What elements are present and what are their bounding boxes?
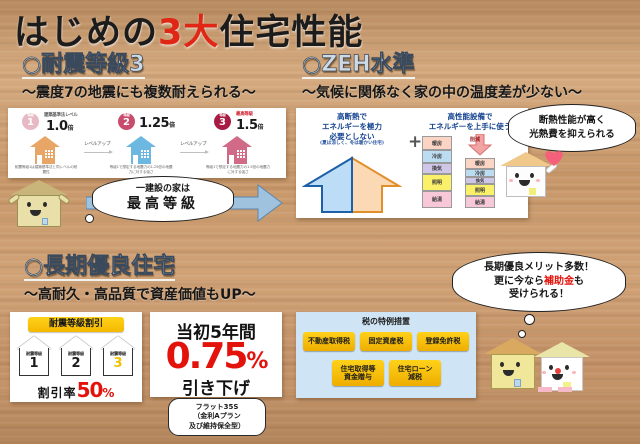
grade-house-3: 耐震等級 3: [101, 336, 135, 376]
flat35s-note: フラット35S （金利Aプラン 及び維持保全型）: [168, 398, 266, 436]
zeh-energy-before-2: 換気: [422, 163, 452, 174]
zeh-energy-before-3: 照明: [422, 174, 452, 191]
tax-item-2[interactable]: 登録免許税: [417, 332, 469, 351]
seismic-level-1-badge-num: 1: [27, 118, 34, 128]
tax-item-3[interactable]: 住宅取得等 資金贈与: [332, 360, 384, 386]
seismic-level-3-caption: 最高等級: [236, 112, 253, 118]
seismic-level-2-unit: 倍: [169, 122, 175, 129]
rate-panel: 当初5年間 0.75% 引き下げ: [150, 312, 282, 397]
zeh-energy-after-0: 暖房: [465, 158, 495, 169]
seismic-level-1-badge-top: 等級: [27, 114, 33, 117]
seismic-level-3-badge: 等級 3: [214, 113, 231, 130]
grade-house-2: 耐震等級 2: [59, 336, 93, 376]
seismic-level-1-number: 1.0: [46, 119, 68, 134]
choki-bubble-line2-post: も: [574, 276, 584, 287]
zeh-diagram-panel: 高断熱で エネルギーを極力 必要としない (夏は涼しく、冬は暖かい住宅) + 高…: [296, 108, 528, 218]
discount-rate-label: 割引率: [38, 386, 77, 400]
tax-item-0[interactable]: 不動産取得税: [303, 332, 355, 351]
discount-rate-value: 50: [77, 378, 103, 402]
zeh-energy-after-3: 照明: [465, 184, 495, 196]
seismic-level-2-badge: 等級 2: [118, 113, 135, 130]
zeh-left-line1: 高断熱で: [300, 112, 404, 122]
choki-bubble-line2-red: 補助金: [544, 276, 574, 287]
seismic-diagram-panel: 等級 1 建築基準法レベル 1.0倍 耐震等級1は建築基準法と同レベルの耐震性 …: [8, 108, 286, 178]
zeh-energy-after-4: 給湯: [465, 196, 495, 208]
zeh-energy-before-4: 給湯: [422, 191, 452, 208]
levelup-arrow-2: [180, 152, 208, 153]
choki-bubble-line2-pre: 更に今なら: [494, 276, 544, 287]
zeh-house-diagram: [302, 156, 402, 214]
tax-item-1[interactable]: 固定資産税: [360, 332, 412, 351]
rate-panel-unit: %: [246, 349, 266, 374]
levelup-label-1: レベルアップ: [84, 141, 110, 147]
section-title-choki: ○長期優良住宅: [24, 254, 175, 281]
zeh-bubble-line2: 光熱費を抑えられる: [529, 129, 615, 141]
zeh-left-note: (夏は涼しく、冬は暖かい住宅): [300, 141, 404, 147]
tax-panel-title: 税の特例措置: [296, 316, 476, 327]
page-title-suffix: 住宅性能: [219, 13, 363, 53]
zeh-energy-before-0: 暖房: [422, 136, 452, 150]
seismic-level-3-number: 1.5: [236, 118, 258, 133]
grade-house-1: 耐震等級 1: [17, 336, 51, 376]
section-subtitle-zeh: 〜気候に関係なく家の中の温度差が少ない〜: [302, 82, 582, 102]
choki-bubble-dot-large: [524, 314, 535, 325]
seismic-level-1-caption: 建築基準法レベル: [44, 113, 78, 119]
section-header-seismic: ○耐震等級3 〜震度7の地震にも複数耐えられる〜: [22, 52, 256, 102]
rate-panel-value-row: 0.75%: [150, 339, 282, 375]
zeh-speech-bubble: 断熱性能が高く 光熱費を抑えられる: [508, 104, 636, 152]
seismic-bubble-line1: 一建設の家は: [136, 184, 190, 195]
section-subtitle-choki: 〜高耐久・高品質で資産価値もUP〜: [24, 284, 256, 304]
seismic-level-3-footnote: 等級1で想定する地震力の1.5倍の地震力に対する強さ: [205, 165, 271, 175]
section-subtitle-seismic: 〜震度7の地震にも複数耐えられる〜: [22, 82, 256, 102]
seismic-level-2-footnote: 等級1で想定する地震力の1.25倍の地震力に対する強さ: [109, 165, 173, 175]
tax-item-4[interactable]: 住宅ローン 減税: [389, 360, 441, 386]
flat35s-line2: （金利Aプラン: [193, 412, 240, 421]
zeh-bubble-line1: 断熱性能が高く: [539, 115, 606, 127]
house-mascot-seismic: [10, 180, 68, 228]
seismic-level-2-badge-top: 等級: [123, 114, 129, 117]
tax-panel: 税の特例措置 不動産取得税 固定資産税 登録免許税 住宅取得等 資金贈与 住宅ロ…: [296, 312, 476, 398]
zeh-energy-after-1: 冷房: [465, 169, 495, 177]
section-header-zeh: ○ZEH水準 〜気候に関係なく家の中の温度差が少ない〜: [302, 52, 582, 102]
choki-bubble-line2: 更に今なら補助金も: [494, 276, 584, 289]
discount-panel: 耐震等級割引 耐震等級 1 耐震等級 2 耐震等級 3 割引率50%: [10, 312, 142, 402]
seismic-level-3-value: 1.5倍: [236, 118, 263, 133]
seismic-level-1-unit: 倍: [68, 125, 74, 132]
flat35s-line3: 及び維持保全型）: [189, 422, 245, 431]
choki-bubble-line1: 長期優良メリット多数！: [484, 262, 594, 275]
seismic-house-icon-1: [30, 136, 60, 164]
zeh-left-line2: エネルギーを極力: [300, 122, 404, 132]
seismic-level-1-value: 1.0倍: [46, 119, 73, 134]
page-title: はじめの3大住宅性能: [14, 4, 363, 55]
seismic-level-3-badge-num: 3: [219, 118, 226, 128]
seismic-level-1-badge: 等級 1: [22, 113, 39, 130]
seismic-bubble-dot: [85, 214, 94, 223]
heart-icon: [543, 147, 565, 167]
grade-house-3-num: 3: [101, 357, 135, 370]
discount-rate-row: 割引率50%: [10, 378, 142, 402]
seismic-level-2-number: 1.25: [139, 116, 169, 131]
seismic-level-2-badge-num: 2: [123, 118, 130, 128]
seismic-bubble-line2: 最高等級: [127, 196, 199, 214]
levelup-label-2: レベルアップ: [180, 141, 206, 147]
section-title-zeh: ○ZEH水準: [302, 52, 415, 79]
house-mascot-white: [534, 342, 590, 392]
grade-house-1-num: 1: [17, 357, 51, 370]
zeh-reduction-label: 削減: [470, 136, 480, 143]
levelup-arrow-1: [84, 152, 112, 153]
seismic-house-icon-3: [222, 136, 252, 164]
seismic-level-3-badge-top: 等級: [219, 114, 225, 117]
rate-panel-line3: 引き下げ: [150, 374, 282, 399]
section-header-choki: ○長期優良住宅 〜高耐久・高品質で資産価値もUP〜: [24, 254, 256, 304]
grade-house-2-num: 2: [59, 357, 93, 370]
section-title-seismic: ○耐震等級3: [22, 52, 145, 79]
zeh-energy-after-2: 換気: [465, 177, 495, 184]
seismic-speech-bubble: 一建設の家は 最高等級: [92, 176, 234, 222]
zeh-energy-before-1: 冷房: [422, 150, 452, 163]
discount-panel-header: 耐震等級割引: [28, 317, 124, 332]
choki-thought-bubble: 長期優良メリット多数！ 更に今なら補助金も 受けられる！: [452, 252, 626, 312]
choki-bubble-dot-small: [518, 330, 526, 338]
seismic-level-2-value: 1.25倍: [139, 116, 175, 131]
content-layer: はじめの3大住宅性能 ○耐震等級3 〜震度7の地震にも複数耐えられる〜 等級 1…: [0, 0, 640, 444]
page-title-highlight: 3大: [158, 13, 219, 53]
rate-panel-value: 0.75: [166, 336, 247, 377]
zeh-left-line3: 必要としない: [300, 132, 404, 142]
seismic-house-icon-2: [126, 136, 156, 164]
zeh-plus-sign: +: [408, 132, 422, 152]
page-title-prefix: はじめの: [14, 13, 158, 53]
choki-bubble-line3: 受けられる！: [509, 289, 569, 302]
seismic-level-1-footnote: 耐震等級1は建築基準法と同レベルの耐震性: [14, 165, 78, 175]
discount-rate-unit: %: [102, 386, 114, 400]
seismic-level-3-unit: 倍: [258, 124, 264, 131]
zeh-left-text: 高断熱で エネルギーを極力 必要としない (夏は涼しく、冬は暖かい住宅): [300, 112, 404, 147]
